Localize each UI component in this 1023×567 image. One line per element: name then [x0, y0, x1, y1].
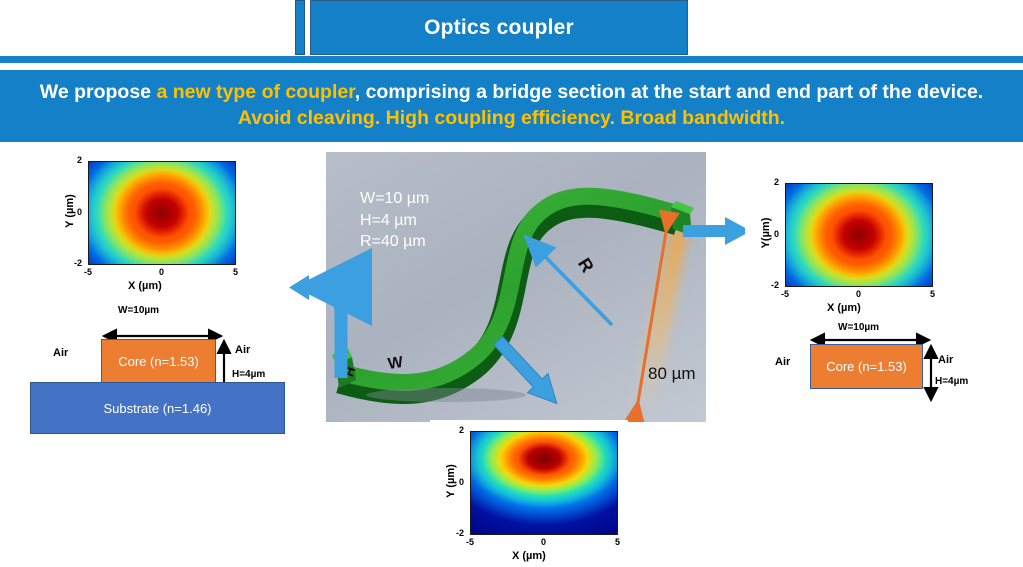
right-plot-width-caption: W=10µm [838, 322, 879, 333]
left-air-label-left: Air [53, 347, 68, 359]
left-x-axis-title: X (µm) [128, 280, 162, 292]
bottom-xtick-max: 5 [615, 537, 620, 547]
statement-text: We propose a new type of coupler, compri… [0, 80, 1023, 131]
header-divider-rule [0, 56, 1023, 63]
right-y-axis-title: Y(µm) [760, 203, 772, 263]
statement-part-2: , comprising a bridge section at the sta… [355, 81, 983, 103]
left-mode-profile-plot: 2 0 -2 -5 0 5 Y (µm) X (µm) [50, 150, 247, 302]
bottom-ytick-bot: -2 [456, 528, 464, 538]
right-core-label: Core (n=1.53) [826, 359, 907, 374]
right-cross-section-diagram: Air Air H=4µm Core (n=1.53) [770, 334, 985, 424]
right-xtick-max: 5 [930, 289, 935, 299]
left-height-label: H=4µm [232, 369, 265, 380]
left-heatmap [88, 161, 236, 265]
right-heatmap-field [786, 184, 932, 286]
left-core-label: Core (n=1.53) [118, 354, 199, 369]
statement-highlight-2: Avoid cleaving. High coupling efficiency… [238, 107, 785, 129]
title-tab-stub [295, 0, 305, 55]
slide-title-box: Optics coupler [310, 0, 688, 55]
right-ytick-top: 2 [774, 177, 779, 187]
beam-length-label: 80 µm [648, 364, 696, 384]
right-xtick-mid: 0 [856, 289, 861, 299]
left-cross-section-diagram: Air Air H=4µm Core (n=1.53) Substrate (n… [25, 312, 290, 427]
bottom-y-axis-title: Y (µm) [445, 451, 457, 511]
left-ytick-mid: 0 [77, 207, 82, 217]
statement-part-1: We propose [40, 81, 157, 103]
left-substrate-region: Substrate (n=1.46) [30, 382, 285, 434]
bottom-heatmap-field [471, 432, 617, 534]
left-ytick-bot: -2 [74, 258, 82, 268]
left-xtick-min: -5 [84, 267, 92, 277]
right-air-label-right: Air [938, 354, 953, 366]
left-xtick-mid: 0 [159, 267, 164, 277]
left-y-axis-title: Y (µm) [64, 181, 76, 241]
right-core-region: Core (n=1.53) [810, 344, 923, 389]
page-title: Optics coupler [424, 16, 574, 40]
right-height-label: H=4µm [935, 376, 968, 387]
left-core-region: Core (n=1.53) [101, 339, 216, 384]
bottom-x-axis-title: X (µm) [512, 550, 546, 562]
right-xtick-min: -5 [781, 289, 789, 299]
bottom-xtick-min: -5 [466, 537, 474, 547]
bottom-ytick-top: 2 [459, 425, 464, 435]
left-air-label-right: Air [235, 344, 250, 356]
bottom-ytick-mid: 0 [459, 477, 464, 487]
left-xtick-max: 5 [233, 267, 238, 277]
right-ytick-bot: -2 [771, 280, 779, 290]
right-air-label-left: Air [775, 356, 790, 368]
bottom-heatmap [470, 431, 618, 535]
bottom-mode-profile-plot: 2 0 -2 -5 0 5 Y (µm) X (µm) [430, 420, 628, 567]
right-mode-profile-plot: 2 0 -2 -5 0 5 Y(µm) X (µm) [745, 172, 943, 324]
arrow-to-left-plot [285, 273, 360, 383]
statement-banner: We propose a new type of coupler, compri… [0, 70, 1023, 142]
left-heatmap-field [89, 162, 235, 264]
right-ytick-mid: 0 [774, 229, 779, 239]
right-heatmap [785, 183, 933, 287]
statement-highlight-1: a new type of coupler [156, 81, 354, 103]
left-ytick-top: 2 [77, 155, 82, 165]
arrow-to-bottom-plot [495, 338, 580, 428]
right-height-dimension-arrow [925, 342, 937, 404]
left-substrate-label: Substrate (n=1.46) [103, 401, 211, 416]
right-x-axis-title: X (µm) [827, 302, 861, 314]
bottom-xtick-mid: 0 [541, 537, 546, 547]
